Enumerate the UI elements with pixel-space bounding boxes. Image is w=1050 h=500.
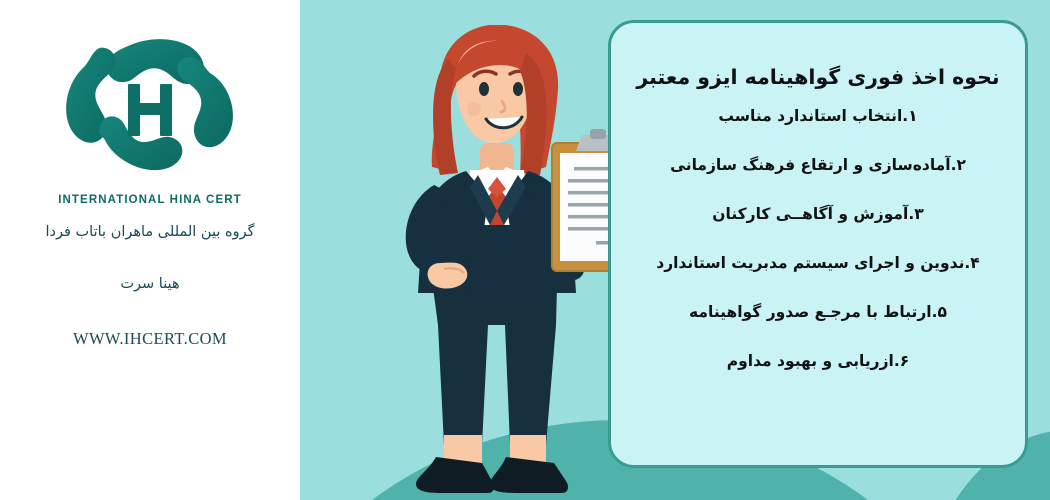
list-item: ۱.انتخاب استاندارد مناسب xyxy=(627,107,1009,125)
brand-panel: INTERNATIONAL HINA CERT گروه بین المللی … xyxy=(0,0,300,500)
hina-cert-circular-logo xyxy=(50,28,250,198)
card-title: نحوه اخذ فوری گواهینامه ایزو معتبر xyxy=(636,65,999,89)
list-item: ۴.ندوین و اجرای سیستم مدبریت استاندارد xyxy=(627,254,1009,272)
content-panel: نحوه اخذ فوری گواهینامه ایزو معتبر ۱.انت… xyxy=(300,0,1050,500)
banner-root: INTERNATIONAL HINA CERT گروه بین المللی … xyxy=(0,0,1050,500)
company-tagline: گروه بین المللی ماهران باتاب فردا xyxy=(0,224,300,241)
list-item: ۵.ارتباط با مرجـع صدور گواهینامه xyxy=(627,303,1009,321)
list-item: ۶.ازریابی و بهبود مداوم xyxy=(627,352,1009,370)
list-item: ۳.آموزش و آگاهــی کارکنان xyxy=(627,205,1009,223)
list-item: ۲.آماده‌سازی و ارتقاع فرهنگ سازمانی xyxy=(627,156,1009,174)
info-card: نحوه اخذ فوری گواهینامه ایزو معتبر ۱.انت… xyxy=(608,20,1028,468)
steps-list: ۱.انتخاب استاندارد مناسب ۲.آماده‌سازی و … xyxy=(627,107,1009,370)
logo-caption: INTERNATIONAL HINA CERT xyxy=(50,194,250,206)
website-url[interactable]: WWW.IHCERT.COM xyxy=(0,329,300,349)
company-short-name: هینا سرت xyxy=(0,276,300,293)
eye-left-icon xyxy=(479,82,489,96)
logo-letter-h xyxy=(128,84,172,136)
logo: INTERNATIONAL HINA CERT xyxy=(50,28,250,198)
eye-right-icon xyxy=(513,82,523,96)
brand-text-block: گروه بین المللی ماهران باتاب فردا هینا س… xyxy=(0,224,300,349)
